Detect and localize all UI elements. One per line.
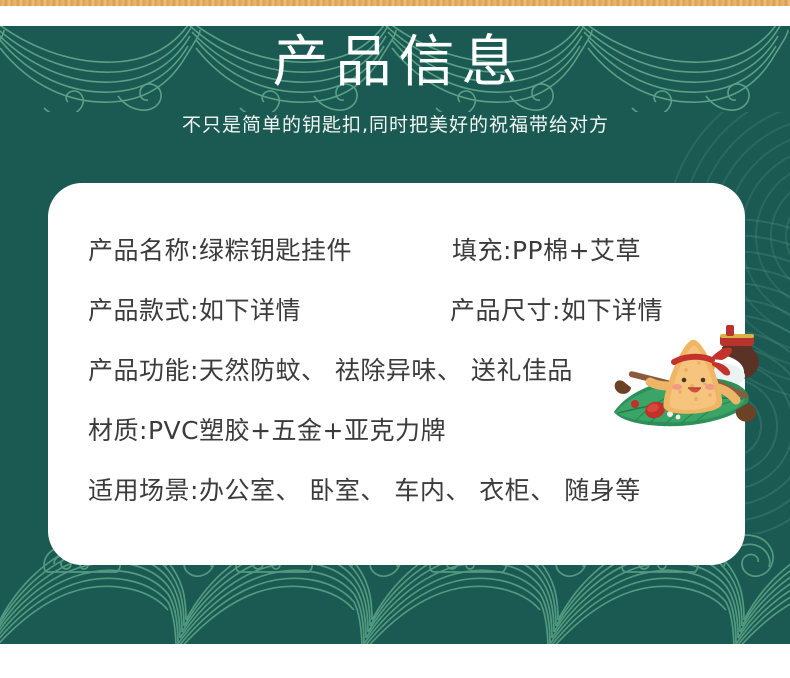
spec-cell-scenario: 适用场景:办公室、 卧室、 车内、 衣柜、 随身等 [88, 461, 641, 521]
page-title: 产品信息 [0, 27, 790, 99]
spec-label-material: 材质: [88, 416, 148, 445]
spec-value-product-name: 绿粽钥匙挂件 [199, 236, 352, 265]
spec-row-style-size: 产品款式:如下详情产品尺寸:如下详情 [48, 281, 745, 341]
page-subtitle: 不只是简单的钥匙扣,同时把美好的祝福带给对方 [0, 112, 790, 138]
spec-value-function: 天然防蚊、 祛除异味、 送礼佳品 [199, 356, 573, 385]
spec-cell-size: 产品尺寸:如下详情 [450, 281, 663, 341]
spec-cell-filling: 填充:PP棉+艾草 [452, 221, 641, 281]
spec-row-name-filling: 产品名称:绿粽钥匙挂件填充:PP棉+艾草 [48, 221, 745, 281]
spec-value-scenario: 办公室、 卧室、 车内、 衣柜、 随身等 [199, 476, 641, 505]
spec-cell-product-name: 产品名称:绿粽钥匙挂件 [88, 221, 406, 281]
spec-value-filling: PP棉+艾草 [512, 236, 641, 265]
spec-row-scenario: 适用场景:办公室、 卧室、 车内、 衣柜、 随身等 [48, 461, 745, 521]
bottom-white-strip [0, 644, 790, 678]
spec-cell-style: 产品款式:如下详情 [88, 281, 404, 341]
spec-value-size: 如下详情 [561, 296, 663, 325]
spec-value-material: PVC塑胶+五金+亚克力牌 [148, 416, 446, 445]
spec-label-style: 产品款式: [88, 296, 199, 325]
spec-cell-function: 产品功能:天然防蚊、 祛除异味、 送礼佳品 [88, 341, 573, 401]
spec-label-size: 产品尺寸: [450, 296, 561, 325]
spec-label-filling: 填充: [452, 236, 512, 265]
product-spec-list: 产品名称:绿粽钥匙挂件填充:PP棉+艾草 产品款式:如下详情产品尺寸:如下详情 … [48, 183, 745, 565]
spec-row-function: 产品功能:天然防蚊、 祛除异味、 送礼佳品 [48, 341, 745, 401]
spec-label-product-name: 产品名称: [88, 236, 199, 265]
spec-label-function: 产品功能: [88, 356, 199, 385]
spec-cell-material: 材质:PVC塑胶+五金+亚克力牌 [88, 401, 446, 461]
product-info-banner: 产品信息 不只是简单的钥匙扣,同时把美好的祝福带给对方 产品名称:绿粽钥匙挂件填… [0, 0, 790, 678]
top-white-gap [0, 6, 790, 26]
spec-label-scenario: 适用场景: [88, 476, 199, 505]
spec-row-material: 材质:PVC塑胶+五金+亚克力牌 [48, 401, 745, 461]
spec-value-style: 如下详情 [199, 296, 301, 325]
product-info-card: 产品名称:绿粽钥匙挂件填充:PP棉+艾草 产品款式:如下详情产品尺寸:如下详情 … [48, 183, 745, 565]
